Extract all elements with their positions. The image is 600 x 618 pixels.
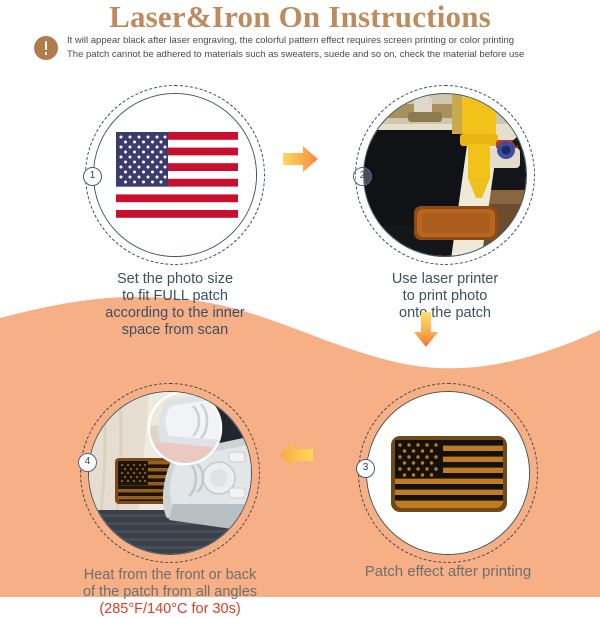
step-1-caption-line-1: Set the photo size — [45, 271, 305, 288]
arrow-step1-to-step2 — [283, 143, 319, 175]
step-3: 3 Patch effect after printing — [358, 383, 538, 563]
arrow-step2-to-step3 — [410, 312, 442, 348]
step-1: 1 Set the photo size to fit FULL patch a… — [85, 85, 265, 265]
iron-pressing-patch-photo — [89, 392, 252, 555]
warning-line-1: It will appear black after laser engravi… — [67, 34, 524, 48]
warning-line-2: The patch cannot be adhered to materials… — [67, 48, 524, 62]
step-1-caption: Set the photo size to fit FULL patch acc… — [45, 271, 305, 339]
step-2-caption-line-1: Use laser printer — [315, 271, 575, 288]
step-3-caption: Patch effect after printing — [318, 563, 578, 580]
step-4-caption-line-2: of the patch from all angles — [40, 584, 300, 601]
infographic-canvas: Laser&Iron On Instructions It will appea… — [0, 0, 600, 597]
step-1-image-frame — [93, 93, 257, 257]
step-4-image-frame — [88, 391, 252, 555]
us-flag-photo — [94, 94, 257, 257]
step-2-number-badge: 2 — [353, 167, 372, 186]
exclamation-circle-icon — [34, 36, 58, 60]
step-4: 4 Heat from the front or back of the pat… — [80, 383, 260, 563]
step-2-image-frame — [363, 93, 527, 257]
step-3-caption-line-1: Patch effect after printing — [318, 563, 578, 580]
laser-engraver-photo — [364, 94, 527, 257]
page-title: Laser&Iron On Instructions — [0, 0, 600, 34]
step-1-caption-line-3: according to the inner — [45, 305, 305, 322]
step-3-image-frame — [366, 391, 530, 555]
step-2-caption-line-2: to print photo — [315, 288, 575, 305]
step-1-number-badge: 1 — [83, 167, 102, 186]
warning-banner: It will appear black after laser engravi… — [34, 34, 574, 61]
engraved-flag-patch-photo — [367, 392, 530, 555]
arrow-step3-to-step4 — [279, 440, 313, 470]
step-3-number-badge: 3 — [356, 459, 375, 478]
step-1-caption-line-2: to fit FULL patch — [45, 288, 305, 305]
step-2-caption-line-3: onto the patch — [315, 305, 575, 322]
step-1-caption-line-4: space from scan — [45, 322, 305, 339]
warning-text: It will appear black after laser engravi… — [67, 34, 524, 61]
step-4-caption-line-1: Heat from the front or back — [40, 567, 300, 584]
step-4-temperature-note: (285°F/140°C for 30s) — [40, 601, 300, 618]
step-2: 2 Use laser printer to print photo onto … — [355, 85, 535, 265]
step-4-caption: Heat from the front or back of the patch… — [40, 567, 300, 618]
step-2-caption: Use laser printer to print photo onto th… — [315, 271, 575, 322]
step-4-number-badge: 4 — [78, 453, 97, 472]
